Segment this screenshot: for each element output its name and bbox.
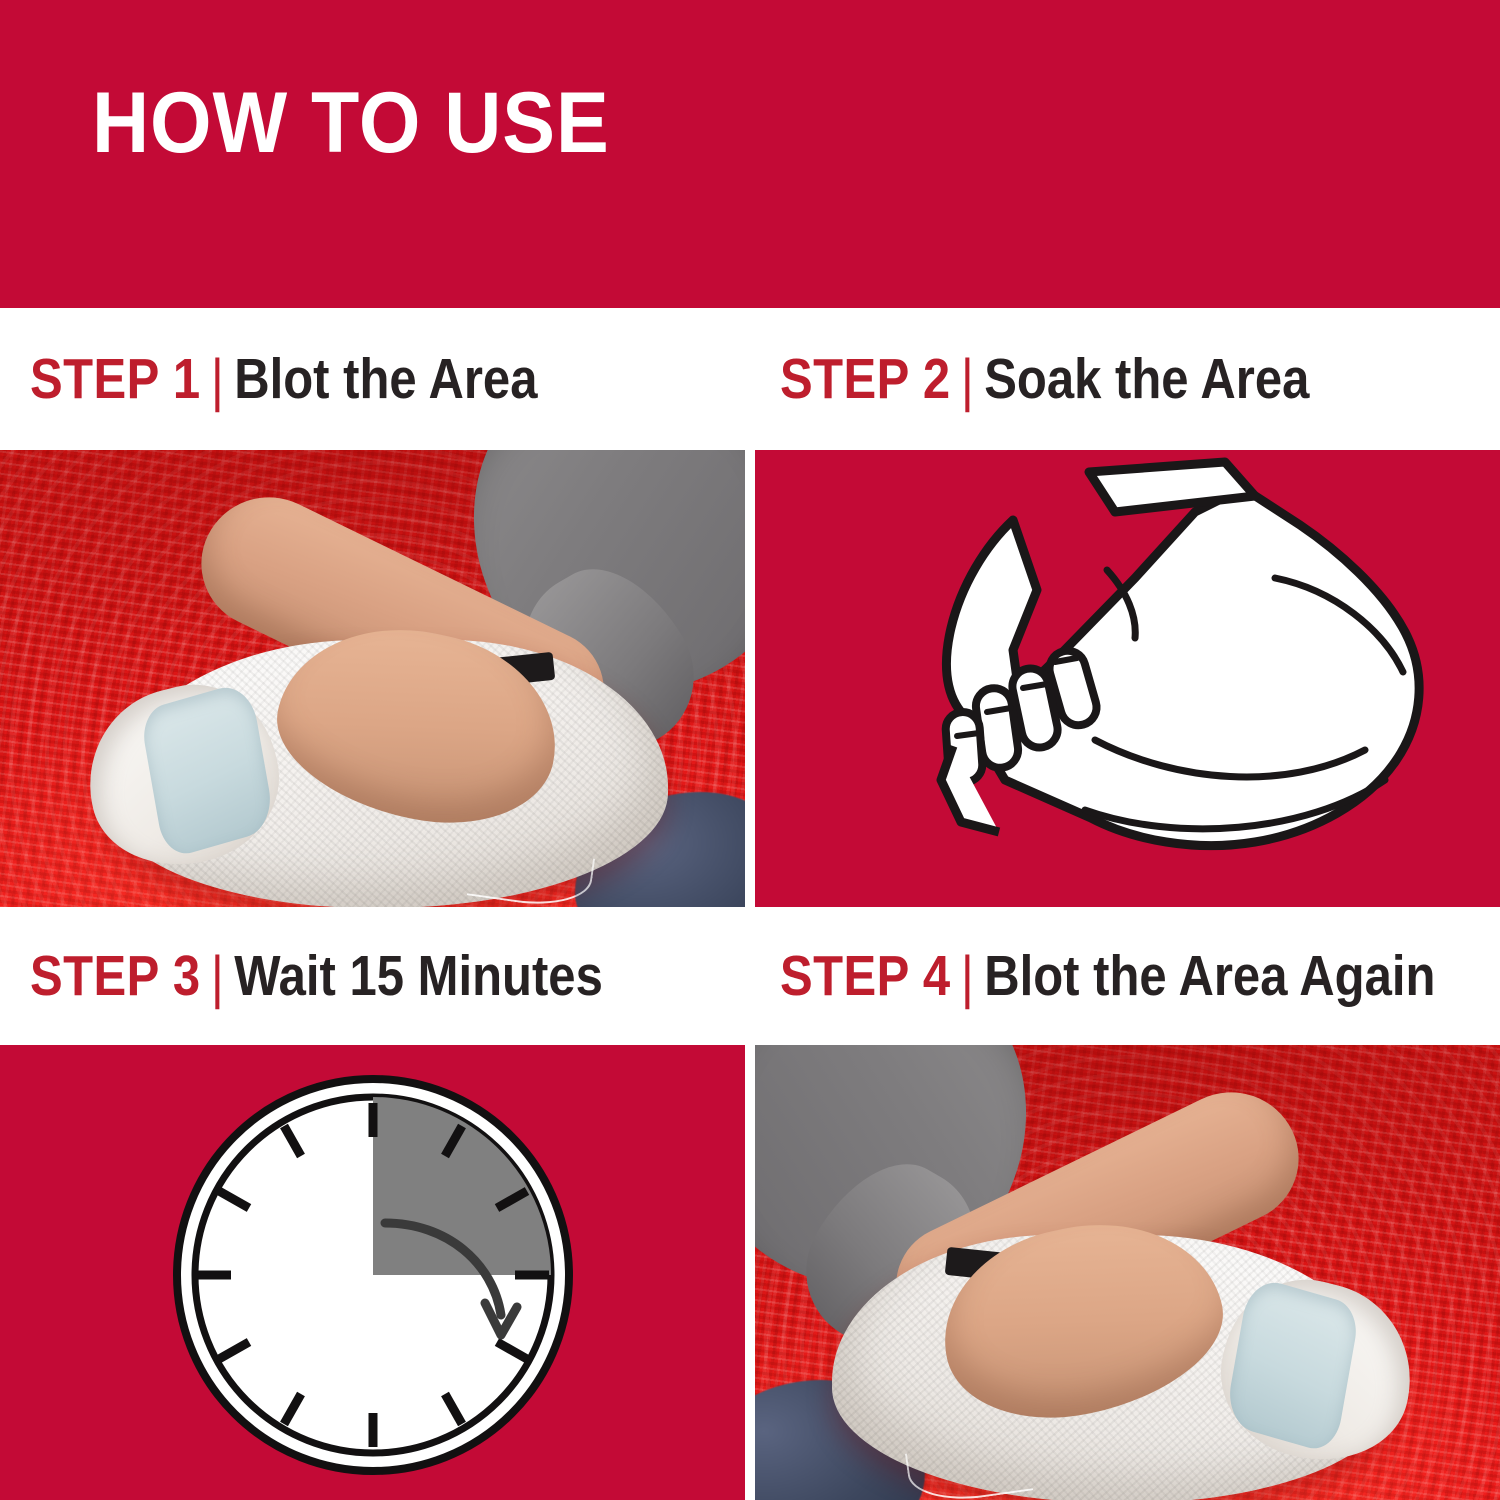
blotting-scene-mirrored [755, 1045, 1500, 1500]
clock-svg [163, 1063, 583, 1483]
step-3-separator: | [201, 948, 235, 1008]
step-label-1: STEP 1 | Blot the Area [0, 308, 750, 450]
step-3-image-panel [0, 1045, 745, 1500]
step-label-3: STEP 3 | Wait 15 Minutes [0, 907, 750, 1045]
step-label-band-row-2: STEP 3 | Wait 15 Minutes STEP 4 | Blot t… [0, 907, 1500, 1045]
step-panel-row-1 [0, 450, 1500, 907]
clock-illustration [0, 1045, 745, 1500]
step-4-title: Blot the Area Again [984, 946, 1435, 1006]
bottle-squeeze-line-drawing [755, 450, 1500, 907]
step-1-image-panel [0, 450, 745, 907]
step-1-number: STEP 1 [30, 349, 201, 409]
step-4-separator: | [951, 948, 985, 1008]
page-title: HOW TO USE [92, 78, 610, 168]
bottle-squeeze-svg [755, 450, 1500, 907]
step-panel-row-2 [0, 1045, 1500, 1500]
step-3-number: STEP 3 [30, 946, 201, 1006]
step-1-separator: | [201, 351, 235, 411]
step-4-image-panel [755, 1045, 1500, 1500]
step-label-4: STEP 4 | Blot the Area Again [750, 907, 1500, 1045]
step-3-title: Wait 15 Minutes [234, 946, 603, 1006]
step-label-band-row-1: STEP 1 | Blot the Area STEP 2 | Soak the… [0, 308, 1500, 450]
step-2-image-panel [755, 450, 1500, 907]
step-2-separator: | [951, 351, 985, 411]
how-to-use-infographic: HOW TO USE STEP 1 | Blot the Area STEP 2… [0, 0, 1500, 1500]
step-2-title: Soak the Area [984, 349, 1309, 409]
blotting-scene [0, 450, 745, 907]
step-2-number: STEP 2 [780, 349, 951, 409]
header-band: HOW TO USE [0, 0, 1500, 308]
step-1-title: Blot the Area [234, 349, 537, 409]
step-4-number: STEP 4 [780, 946, 951, 1006]
step-label-2: STEP 2 | Soak the Area [750, 308, 1500, 450]
